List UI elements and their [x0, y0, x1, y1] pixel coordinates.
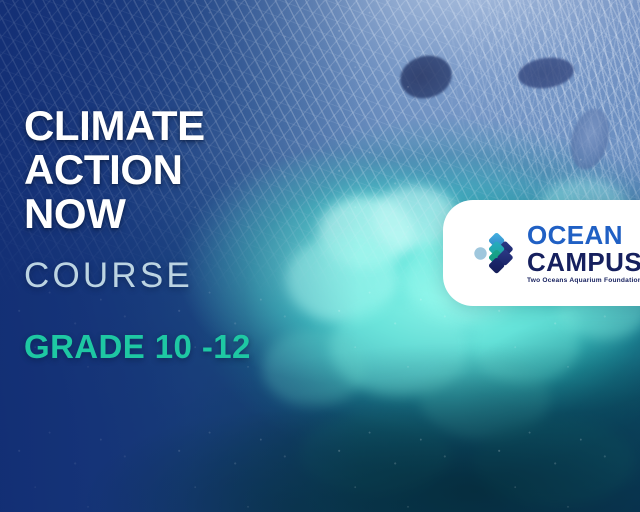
- ocean-campus-wordmark: OCEAN CAMPUS Two Oceans Aquarium Foundat…: [527, 222, 640, 285]
- promo-banner: CLIMATE ACTION NOW COURSE GRADE 10 -12: [0, 0, 640, 512]
- copy-block: CLIMATE ACTION NOW COURSE GRADE 10 -12: [24, 104, 251, 364]
- brand-line-campus: CAMPUS: [527, 249, 640, 275]
- grade-label: GRADE 10 -12: [24, 330, 251, 364]
- headline-line-3: NOW: [24, 192, 251, 236]
- headline-line-1: CLIMATE: [24, 104, 251, 148]
- subtitle-course: COURSE: [24, 258, 251, 294]
- logo-card: OCEAN CAMPUS Two Oceans Aquarium Foundat…: [443, 200, 640, 306]
- headline: CLIMATE ACTION NOW: [24, 104, 251, 236]
- brand-tagline: Two Oceans Aquarium Foundation: [527, 278, 640, 285]
- ocean-campus-mark-icon: [473, 232, 518, 274]
- brand-line-ocean: OCEAN: [527, 222, 640, 248]
- ocean-campus-logo: OCEAN CAMPUS Two Oceans Aquarium Foundat…: [473, 222, 640, 285]
- headline-line-2: ACTION: [24, 148, 251, 192]
